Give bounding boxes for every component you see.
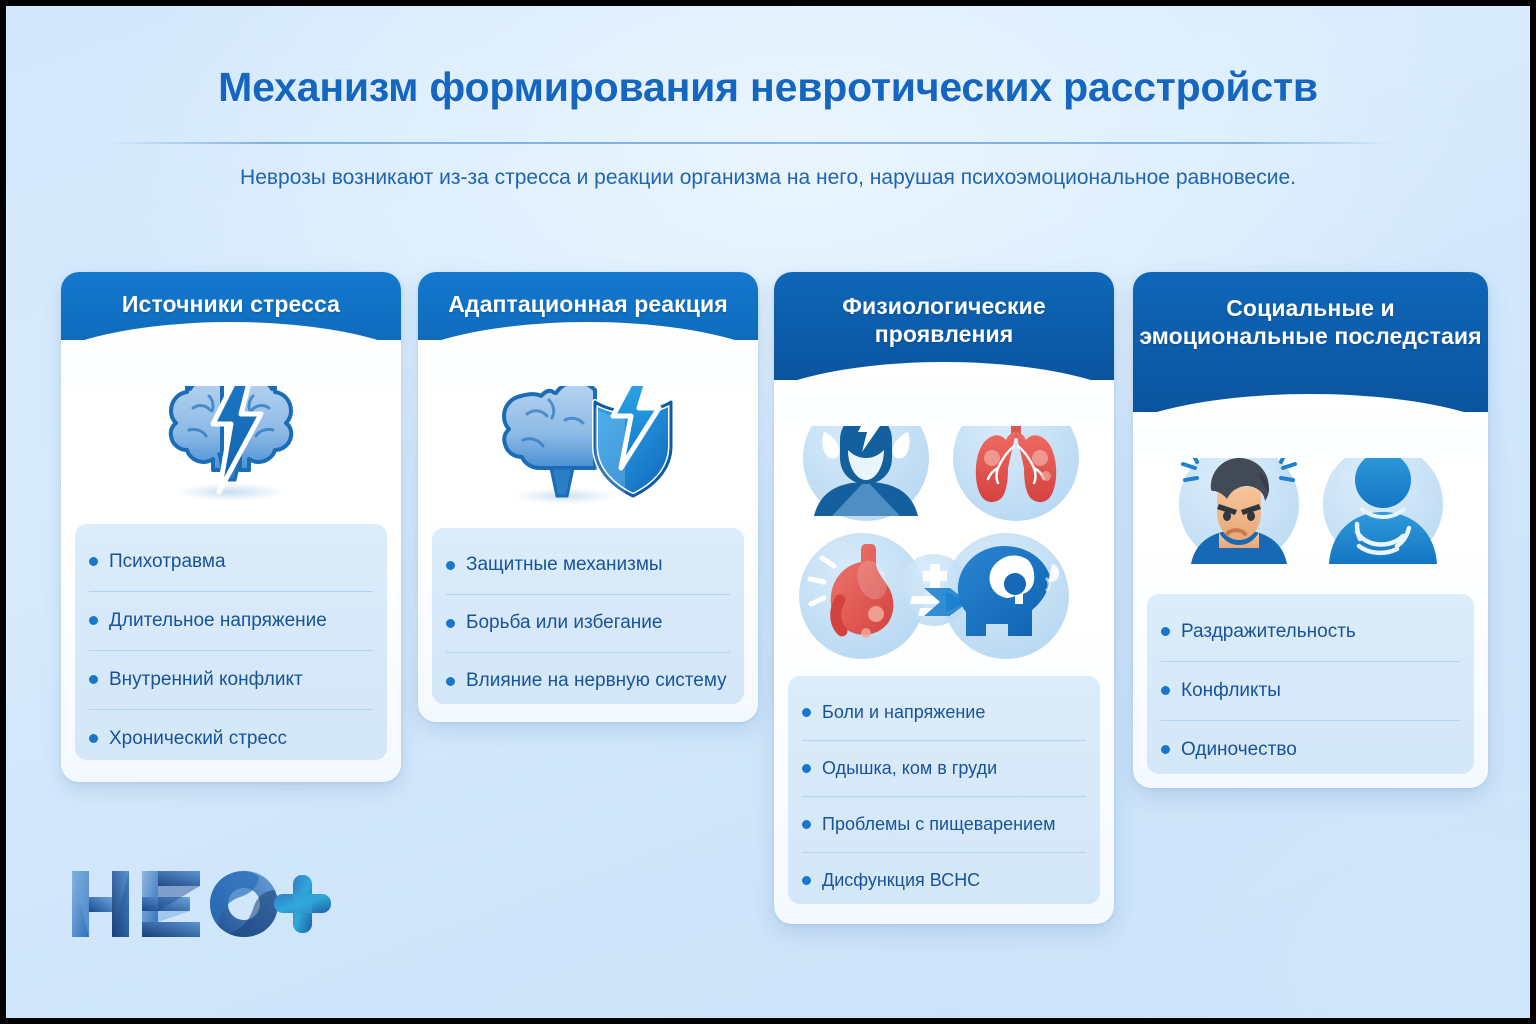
list-item-label: Влияние на нервную систему — [466, 670, 727, 692]
bullet-dot-icon — [89, 557, 98, 566]
bullet-dot-icon — [802, 820, 811, 829]
card-header: Адаптационная реакция — [418, 272, 758, 340]
infographic-canvas: Механизм формирования невротических расс… — [6, 6, 1530, 1018]
card-bullet-list: Защитные механизмы Борьба или избегание … — [432, 528, 744, 704]
physiological-icon-grid — [794, 388, 1094, 663]
list-item-label: Одиночество — [1181, 739, 1297, 761]
list-item[interactable]: Проблемы с пищеварением — [788, 796, 1100, 852]
logo-letter-n — [72, 871, 129, 937]
bullet-dot-icon — [1161, 745, 1170, 754]
list-item[interactable]: Одиночество — [1147, 720, 1474, 779]
list-item[interactable]: Влияние на нервную систему — [432, 652, 744, 710]
bullet-dot-icon — [802, 764, 811, 773]
list-item-label: Внутренний конфликт — [109, 669, 303, 691]
page-subtitle: Неврозы возникают из-за стресса и реакци… — [6, 166, 1530, 190]
bullet-dot-icon — [1161, 686, 1170, 695]
list-item[interactable]: Защитные механизмы — [432, 536, 744, 594]
bullet-dot-icon — [446, 561, 455, 570]
list-item-label: Длительное напряжение — [109, 610, 327, 632]
bullet-dot-icon — [89, 675, 98, 684]
card-header: Физиологические проявления — [774, 272, 1114, 380]
neo-plus-logo[interactable] — [68, 861, 336, 947]
list-item[interactable]: Борьба или избегание — [432, 594, 744, 652]
list-item[interactable]: Длительное напряжение — [75, 591, 387, 650]
card-physiological-manifestations[interactable]: Физиологические проявления — [774, 272, 1114, 924]
card-header: Социальные и эмоциональные последстаия — [1133, 272, 1488, 412]
list-item-label: Дисфункция ВСНС — [822, 870, 980, 891]
list-item[interactable]: Хронический стресс — [75, 709, 387, 768]
card-bullet-list: Раздражительность Конфликты Одиночество — [1147, 594, 1474, 774]
list-item-label: Конфликты — [1181, 680, 1281, 702]
bullet-dot-icon — [446, 677, 455, 686]
card-title: Адаптационная реакция — [418, 290, 758, 318]
logo-plus-sign — [274, 875, 331, 933]
bullet-dot-icon — [89, 734, 98, 743]
bullet-dot-icon — [89, 616, 98, 625]
list-item-label: Защитные механизмы — [466, 554, 663, 576]
list-item[interactable]: Раздражительность — [1147, 602, 1474, 661]
list-item-label: Борьба или избегание — [466, 612, 663, 634]
list-item-label: Хронический стресс — [109, 728, 287, 750]
bullet-dot-icon — [446, 619, 455, 628]
list-item[interactable]: Конфликты — [1147, 661, 1474, 720]
title-divider — [106, 142, 1396, 144]
card-social-emotional-consequences[interactable]: Социальные и эмоциональные последстаия — [1133, 272, 1488, 788]
card-bullet-list: Боли и напряжение Одышка, ком в груди Пр… — [788, 676, 1100, 904]
list-item[interactable]: Внутренний конфликт — [75, 650, 387, 709]
logo-letter-o — [210, 871, 278, 937]
list-item-label: Проблемы с пищеварением — [822, 814, 1055, 835]
bullet-dot-icon — [802, 876, 811, 885]
card-title: Источники стресса — [61, 290, 401, 318]
list-item[interactable]: Боли и напряжение — [788, 684, 1100, 740]
card-title: Социальные и эмоциональные последстаия — [1133, 294, 1488, 350]
list-item[interactable]: Одышка, ком в груди — [788, 740, 1100, 796]
card-sources-of-stress[interactable]: Источники стресса — [61, 272, 401, 782]
list-item[interactable]: Психотравма — [75, 532, 387, 591]
card-header: Источники стресса — [61, 272, 401, 340]
page-title: Механизм формирования невротических расс… — [6, 64, 1530, 111]
list-item-label: Боли и напряжение — [822, 702, 985, 723]
bullet-dot-icon — [1161, 627, 1170, 636]
card-bullet-list: Психотравма Длительное напряжение Внутре… — [75, 524, 387, 760]
bullet-dot-icon — [802, 708, 811, 717]
card-adaptive-reaction[interactable]: Адаптационная реакция — [418, 272, 758, 722]
list-item-label: Раздражительность — [1181, 621, 1356, 643]
logo-letter-e — [142, 871, 200, 937]
list-item[interactable]: Дисфункция ВСНС — [788, 852, 1100, 908]
card-title: Физиологические проявления — [774, 292, 1114, 348]
list-item-label: Одышка, ком в груди — [822, 758, 997, 779]
list-item-label: Психотравма — [109, 551, 226, 573]
